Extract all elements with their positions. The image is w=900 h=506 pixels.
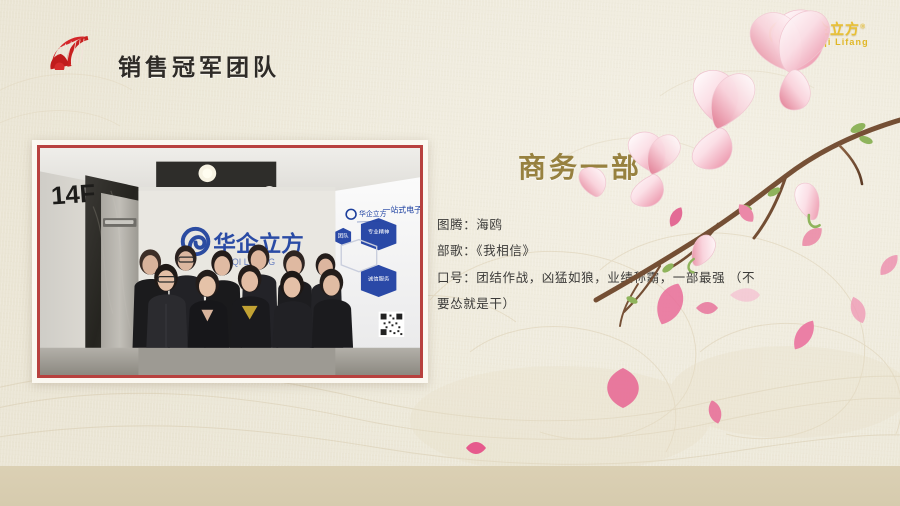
- page-title: 销售冠军团队: [118, 48, 280, 82]
- totem-line: 图腾：海鸥: [437, 212, 757, 238]
- logo-english-text: Huaqi Lifang: [801, 37, 869, 47]
- team-photo-border: 14F 华企立方 HUAQI LIFANG 华企立方 一站式电子商务: [37, 145, 423, 378]
- department-name: 商务一部: [518, 146, 642, 186]
- slide-canvas: 销售冠军团队 华企立方® Huaqi Lifang: [0, 0, 900, 506]
- team-photo-frame: 14F 华企立方 HUAQI LIFANG 华企立方 一站式电子商务: [32, 140, 428, 383]
- petal-12: [466, 440, 486, 456]
- team-photo: 14F 华企立方 HUAQI LIFANG 华企立方 一站式电子商务: [40, 148, 420, 375]
- svg-text:14F: 14F: [50, 180, 96, 211]
- svg-text:团队: 团队: [338, 232, 349, 240]
- slogan-line: 口号：团结作战，凶猛如狼，业绩称霸，一部最强 （不要怂就是干）: [437, 265, 757, 318]
- department-info: 图腾：海鸥 部歌：《我相信》 口号：团结作战，凶猛如狼，业绩称霸，一部最强 （不…: [437, 212, 757, 317]
- brand-logo: 华企立方® Huaqi Lifang: [768, 18, 878, 58]
- slide-header: 销售冠军团队 华企立方® Huaqi Lifang: [0, 0, 900, 88]
- red-folding-fan-icon: [48, 36, 94, 70]
- svg-text:一站式电子商务: 一站式电子商务: [383, 204, 420, 214]
- registered-mark: ®: [860, 22, 866, 30]
- song-line: 部歌：《我相信》: [437, 238, 757, 264]
- svg-text:专业精神: 专业精神: [368, 228, 390, 236]
- petal-8: [848, 296, 868, 324]
- petal-3: [802, 224, 822, 250]
- bottom-accent-bar: [0, 466, 900, 506]
- petal-10: [706, 400, 724, 424]
- petal-11: [880, 252, 898, 278]
- svg-text:诚信服务: 诚信服务: [368, 275, 390, 283]
- petal-7: [793, 318, 815, 352]
- logo-chinese-text: 华企立方®: [800, 19, 866, 39]
- logo-mark-icon: [768, 20, 796, 48]
- petal-9: [600, 368, 646, 408]
